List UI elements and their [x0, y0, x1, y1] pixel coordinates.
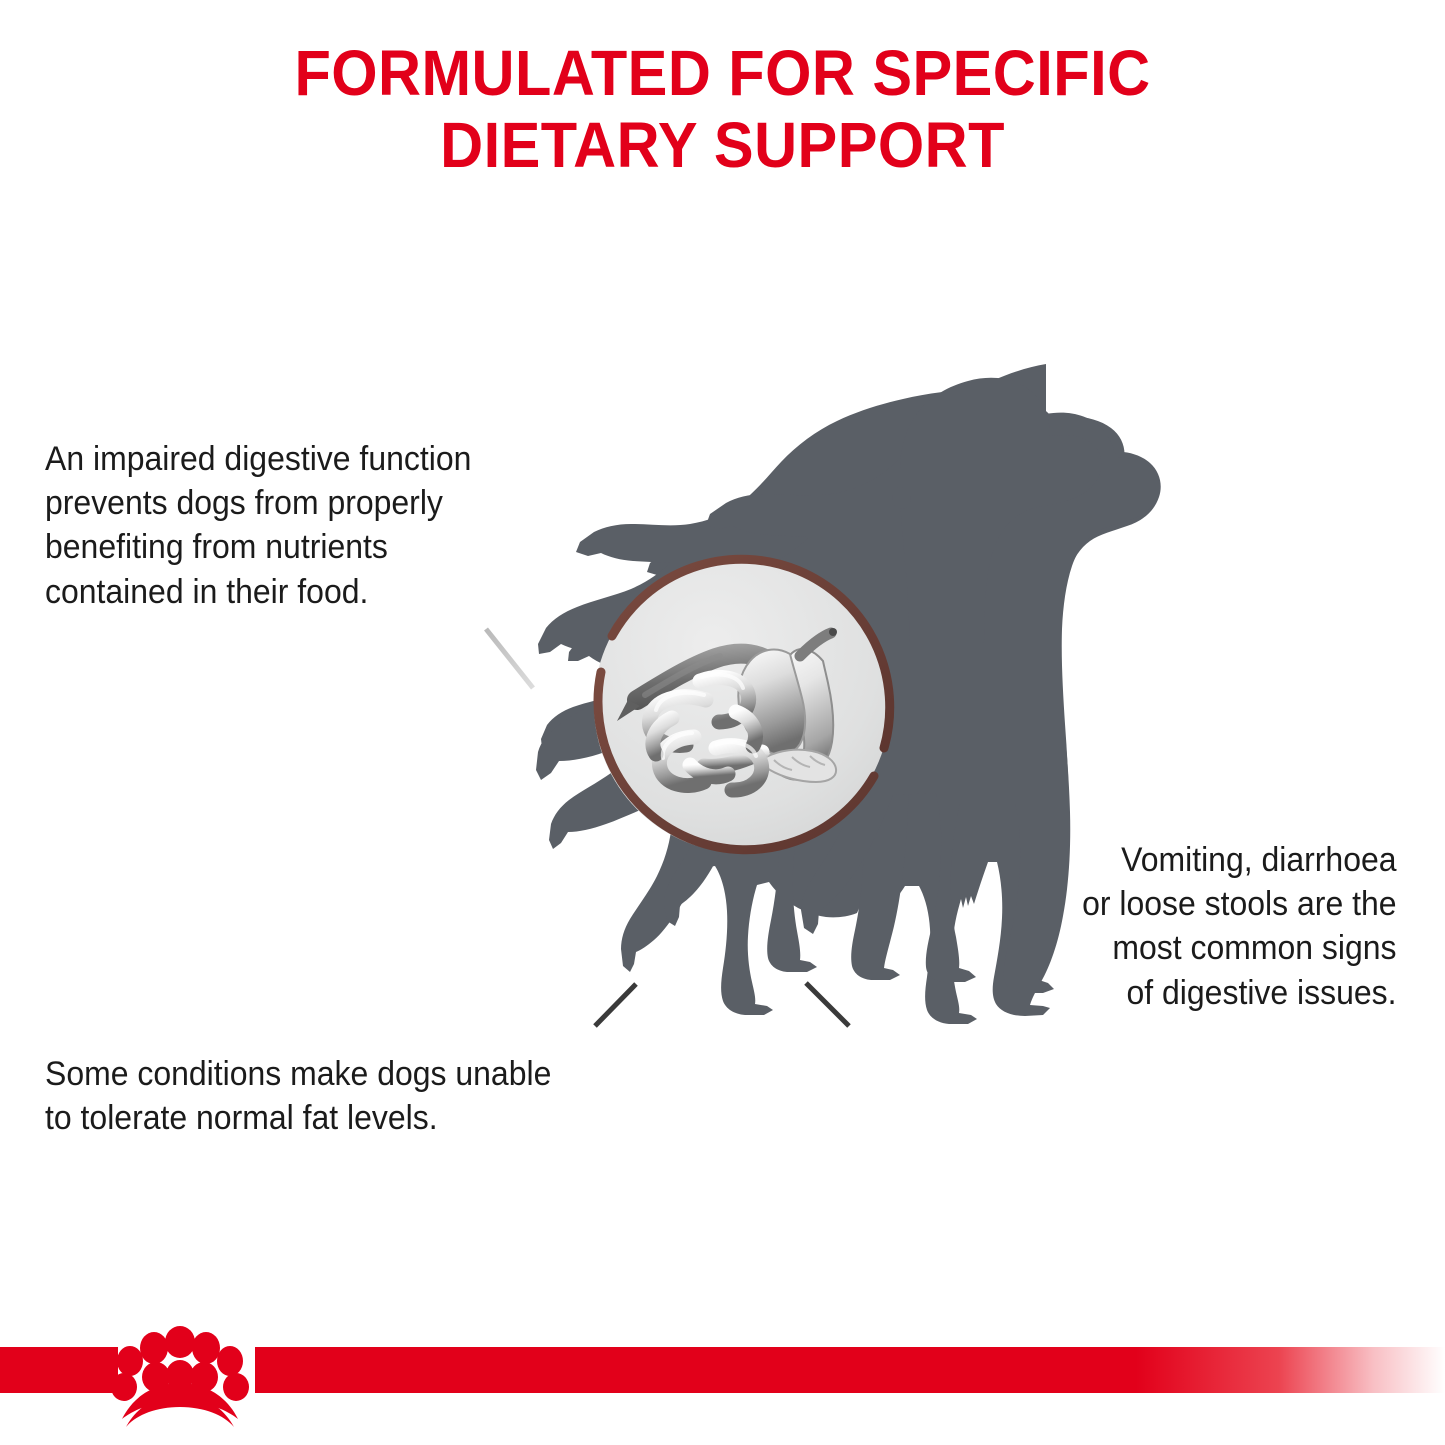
callout-fat-intolerance: Some conditions make dogs unable to tole… — [45, 1052, 551, 1140]
dog-body-mass — [536, 390, 1125, 980]
callout-line: Vomiting, diarrhoea — [1083, 838, 1397, 882]
callout-common-signs: Vomiting, diarrhoea or loose stools are … — [1083, 838, 1397, 1015]
callout-line: contained in their food. — [45, 570, 471, 614]
duodenum — [704, 752, 762, 766]
callout-line: benefiting from nutrients — [45, 525, 471, 569]
callout-line: of digestive issues. — [1083, 971, 1397, 1015]
page-title: FORMULATED FOR SPECIFIC DIETARY SUPPORT — [51, 38, 1395, 181]
infographic-canvas: FORMULATED FOR SPECIFIC DIETARY SUPPORT — [0, 0, 1445, 1445]
footer-brand-bar — [0, 1347, 1445, 1393]
leader-line-bottom-left-elbow — [595, 984, 636, 1026]
callout-line: An impaired digestive function — [45, 437, 471, 481]
callout-impaired-digestive-function: An impaired digestive function prevents … — [45, 437, 471, 614]
digestive-system-highlight — [594, 557, 890, 853]
callout-line: Some conditions make dogs unable — [45, 1052, 551, 1096]
dog-silhouette — [541, 415, 1161, 1024]
organs-illustration — [617, 628, 837, 790]
footer-bar-right-segment — [255, 1347, 1445, 1393]
leader-line-right-elbow — [806, 983, 849, 1026]
callout-line: prevents dogs from properly — [45, 481, 471, 525]
colon-tip — [617, 700, 640, 721]
callout-line: to tolerate normal fat levels. — [45, 1096, 551, 1140]
royal-canin-crown-logo — [100, 1315, 260, 1427]
callout-line: or loose stools are the — [1083, 882, 1397, 926]
page-title-line-1: FORMULATED FOR SPECIFIC — [294, 37, 1150, 109]
illustration-dog-with-digestive-system — [0, 0, 1445, 1445]
colon-organ — [637, 654, 788, 720]
callout-line: most common signs — [1083, 926, 1397, 970]
highlight-disc — [594, 557, 890, 853]
dog-head — [892, 378, 1102, 643]
pancreas-organ — [763, 750, 836, 782]
highlight-ring — [598, 559, 890, 849]
oesophagus — [800, 633, 831, 656]
small-intestine — [649, 677, 761, 790]
stomach-body — [738, 650, 805, 755]
page-title-line-2: DIETARY SUPPORT — [51, 110, 1395, 182]
stomach-organ — [767, 649, 833, 780]
leader-line-top-left-elbow — [486, 629, 533, 688]
